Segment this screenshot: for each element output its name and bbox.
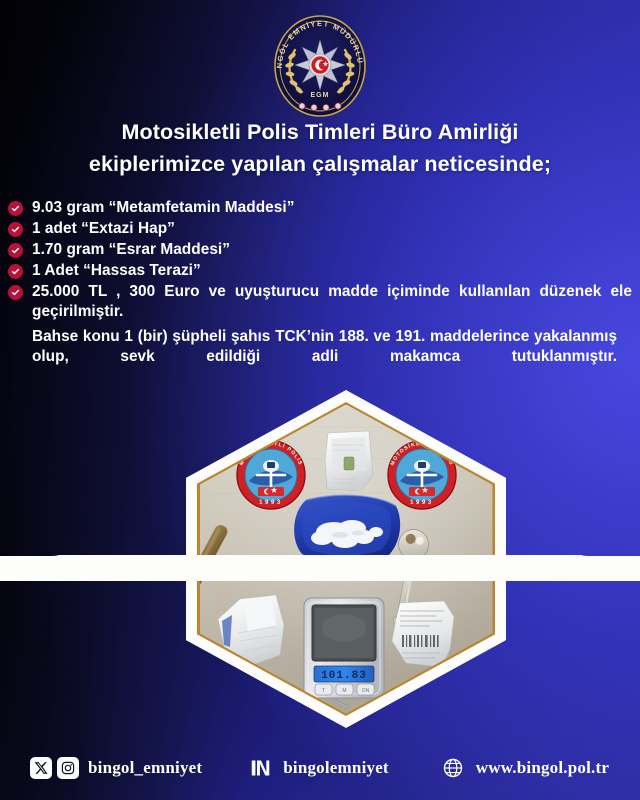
decorative-notch-left-bottom	[0, 581, 78, 741]
website-url[interactable]: www.bingol.pol.tr	[476, 758, 609, 778]
svg-text:ON: ON	[361, 688, 369, 694]
social-group-nsosyal[interactable]: bingolemniyet	[248, 756, 389, 780]
check-circle-icon	[8, 285, 23, 300]
list-item: 1 adet “Extazi Hap”	[8, 219, 632, 239]
svg-text:1993: 1993	[410, 500, 434, 506]
social-group-x-instagram[interactable]: bingol_emniyet	[30, 757, 202, 779]
list-item: 1.70 gram “Esrar Maddesi”	[8, 240, 632, 260]
decorative-notch-right-bottom	[562, 581, 640, 741]
svg-text:101.83: 101.83	[321, 670, 367, 682]
headline-line-2: ekiplerimizce yapılan çalışmalar netices…	[14, 148, 626, 180]
headline-line-1: Motosikletli Polis Timleri Büro Amirliği	[14, 116, 626, 148]
list-item-label: 1.70 gram “Esrar Maddesi”	[32, 240, 632, 260]
svg-text:1993: 1993	[259, 500, 283, 506]
instagram-icon[interactable]	[57, 757, 79, 779]
list-item: 9.03 gram “Metamfetamin Maddesi”	[8, 198, 632, 218]
globe-icon[interactable]	[441, 756, 465, 780]
check-circle-icon	[8, 222, 23, 237]
footer-social-bar: bingol_emniyet bingolemniyet www.bingol.…	[0, 736, 640, 800]
police-emblem-logo: BİNGÖL EMNİYET MÜDÜRLÜĞÜ	[264, 8, 376, 120]
check-circle-icon	[8, 264, 23, 279]
decorative-notch-left-top	[0, 430, 78, 556]
x-twitter-icon[interactable]	[30, 757, 52, 779]
headline: Motosikletli Polis Timleri Büro Amirliği…	[0, 116, 640, 180]
decorative-notch-right-top	[562, 430, 640, 556]
list-item-label: 1 Adet “Hassas Terazi”	[32, 261, 632, 281]
nsosyal-icon[interactable]	[248, 756, 272, 780]
poster-canvas: BİNGÖL EMNİYET MÜDÜRLÜĞÜ	[0, 0, 640, 800]
check-circle-icon	[8, 243, 23, 258]
svg-text:EGM: EGM	[311, 92, 330, 99]
check-circle-icon	[8, 201, 23, 216]
legal-statement-paragraph: Bahse konu 1 (bir) şüpheli şahıs TCK’nin…	[32, 327, 617, 387]
x-instagram-handle[interactable]: bingol_emniyet	[88, 758, 202, 778]
website-group[interactable]: www.bingol.pol.tr	[441, 756, 609, 780]
svg-text:M: M	[342, 688, 346, 694]
decorative-white-band	[0, 555, 640, 581]
list-item: 1 Adet “Hassas Terazi”	[8, 261, 632, 281]
seized-items-list: 9.03 gram “Metamfetamin Maddesi” 1 adet …	[8, 198, 632, 343]
nsosyal-handle[interactable]: bingolemniyet	[283, 758, 389, 778]
svg-text:T: T	[321, 688, 324, 694]
list-item-label: 9.03 gram “Metamfetamin Maddesi”	[32, 198, 632, 218]
list-item-label: 1 adet “Extazi Hap”	[32, 219, 632, 239]
